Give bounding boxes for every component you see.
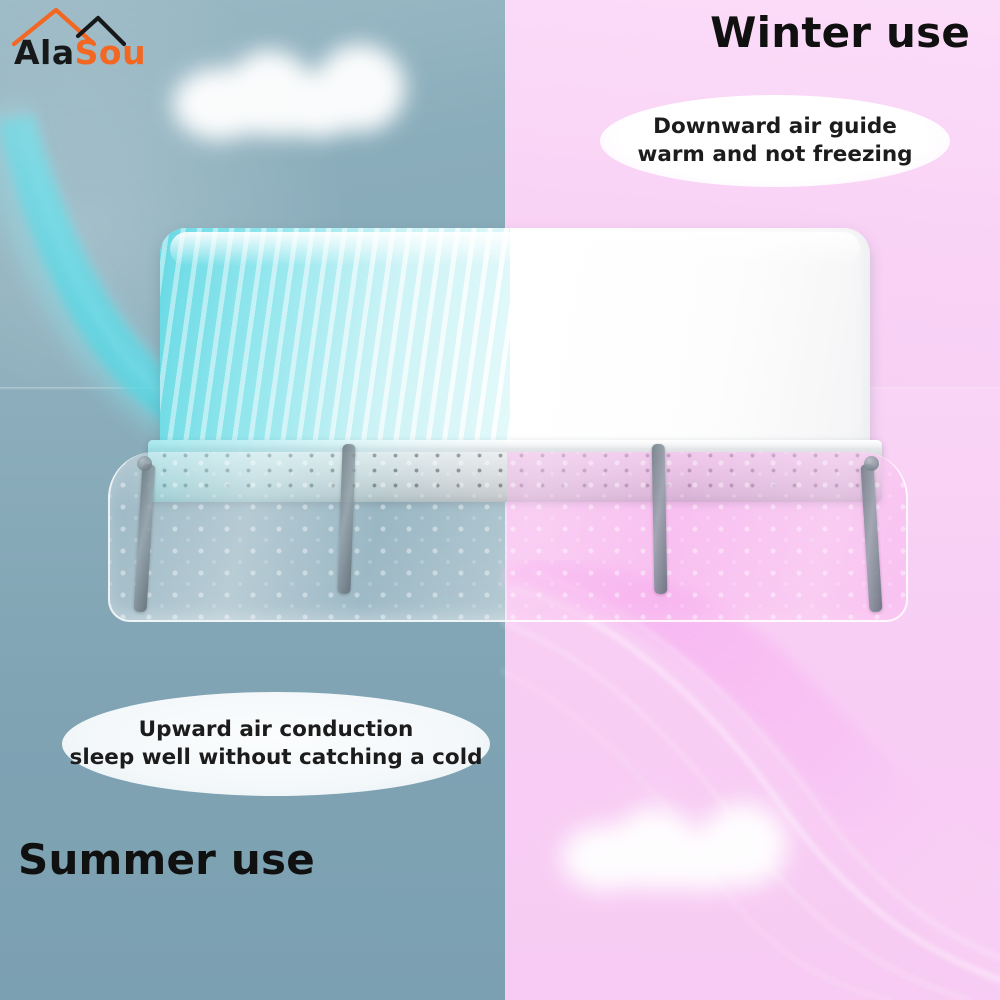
ac-top-highlight <box>170 232 860 266</box>
product-marketing-image: Downward air guide warm and not freezing… <box>0 0 1000 1000</box>
deflector-bracket-right-inner <box>652 444 668 594</box>
winter-callout-line-1: Downward air guide <box>637 113 912 141</box>
air-conditioner-unit <box>160 228 870 460</box>
winter-use-heading: Winter use <box>710 8 970 57</box>
deflector-sheen <box>110 452 906 620</box>
air-deflector-shield <box>108 452 908 622</box>
deflector-knob-right <box>864 456 879 471</box>
brand-logo-text: AlaSou <box>14 36 146 69</box>
winter-callout-bubble: Downward air guide warm and not freezing <box>600 95 950 187</box>
winter-callout-line-2: warm and not freezing <box>637 141 912 169</box>
summer-callout-line-2: sleep well without catching a cold <box>70 744 483 772</box>
summer-use-heading: Summer use <box>18 835 315 884</box>
deflector-shell <box>108 452 908 622</box>
brand-logo-text-primary: Ala <box>14 33 75 72</box>
summer-callout-bubble: Upward air conduction sleep well without… <box>62 692 490 796</box>
brand-logo: AlaSou <box>8 4 138 74</box>
deflector-knob-left <box>137 456 152 471</box>
summer-callout-line-1: Upward air conduction <box>70 716 483 744</box>
brand-logo-text-accent: Sou <box>75 33 146 72</box>
